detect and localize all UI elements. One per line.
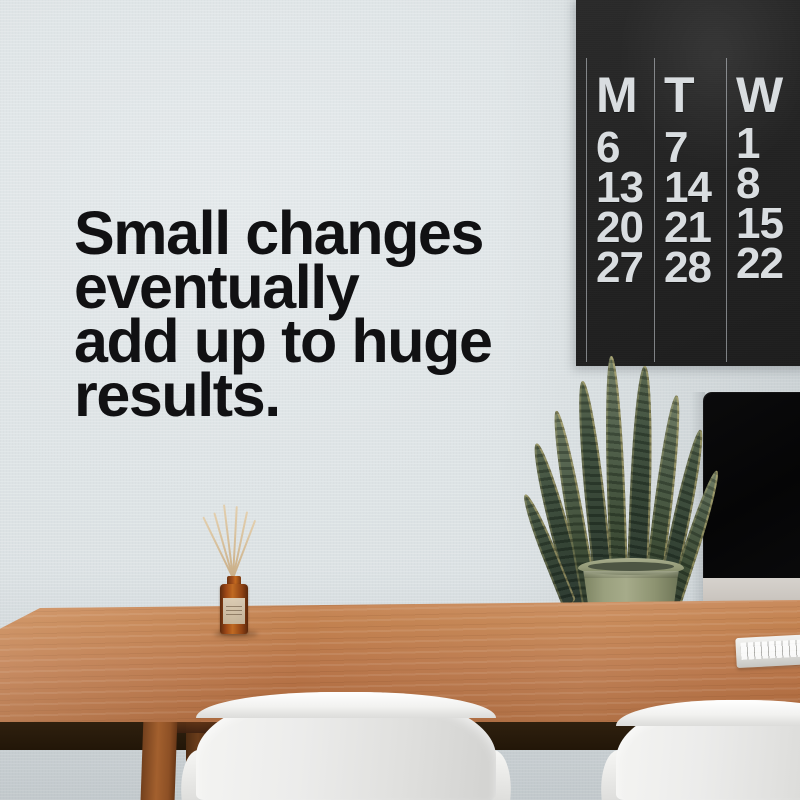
calendar-date: 13: [596, 168, 648, 208]
calendar-day-label: M: [596, 70, 648, 120]
desk-leg-front: [141, 718, 178, 800]
calendar-date: 22: [736, 244, 792, 284]
calendar-columns: M 6 13 20 27 T 7 14 21 28 W: [576, 0, 800, 366]
calendar-date: 20: [596, 208, 648, 248]
office-quote-scene: M 6 13 20 27 T 7 14 21 28 W: [0, 0, 800, 800]
white-molded-chair-left: [196, 692, 496, 800]
calendar-date: 21: [664, 208, 720, 248]
diffuser-label: [223, 598, 245, 624]
calendar-date: 28: [664, 248, 720, 288]
calendar-dates-monday: 6 13 20 27: [596, 128, 648, 288]
calendar-date: 15: [736, 204, 792, 244]
reed-diffuser: [210, 498, 258, 634]
quote-line: eventually: [74, 260, 554, 314]
calendar-date: 1: [736, 124, 792, 164]
calendar-date: 14: [664, 168, 720, 208]
calendar-day-label: W: [736, 70, 792, 120]
calendar-day-label: T: [664, 70, 720, 120]
imac-monitor: [703, 392, 800, 610]
calendar-column-wednesday: W 1 8 15 22: [720, 0, 792, 366]
calendar-column-monday: M 6 13 20 27: [576, 0, 648, 366]
chair-rim: [196, 692, 496, 718]
quote-line: results.: [74, 368, 554, 422]
calendar-date: 7: [664, 128, 720, 168]
calendar-date: 8: [736, 164, 792, 204]
calendar-dates-tuesday: 7 14 21 28: [664, 128, 720, 288]
quote-line: add up to huge: [74, 314, 554, 368]
wall-calendar-poster: M 6 13 20 27 T 7 14 21 28 W: [576, 0, 800, 366]
white-molded-chair-right: [616, 700, 800, 800]
quote-line: Small changes: [74, 206, 554, 260]
wall-quote-decal: Small changes eventually add up to huge …: [74, 206, 554, 422]
chair-rim: [616, 700, 800, 726]
calendar-date: 27: [596, 248, 648, 288]
pot-lip: [583, 571, 679, 578]
calendar-column-tuesday: T 7 14 21 28: [648, 0, 720, 366]
calendar-dates-wednesday: 1 8 15 22: [736, 124, 792, 284]
keyboard-keys: [741, 639, 800, 660]
calendar-date: 6: [596, 128, 648, 168]
monitor-screen: [703, 392, 800, 579]
wireless-keyboard: [735, 634, 800, 668]
